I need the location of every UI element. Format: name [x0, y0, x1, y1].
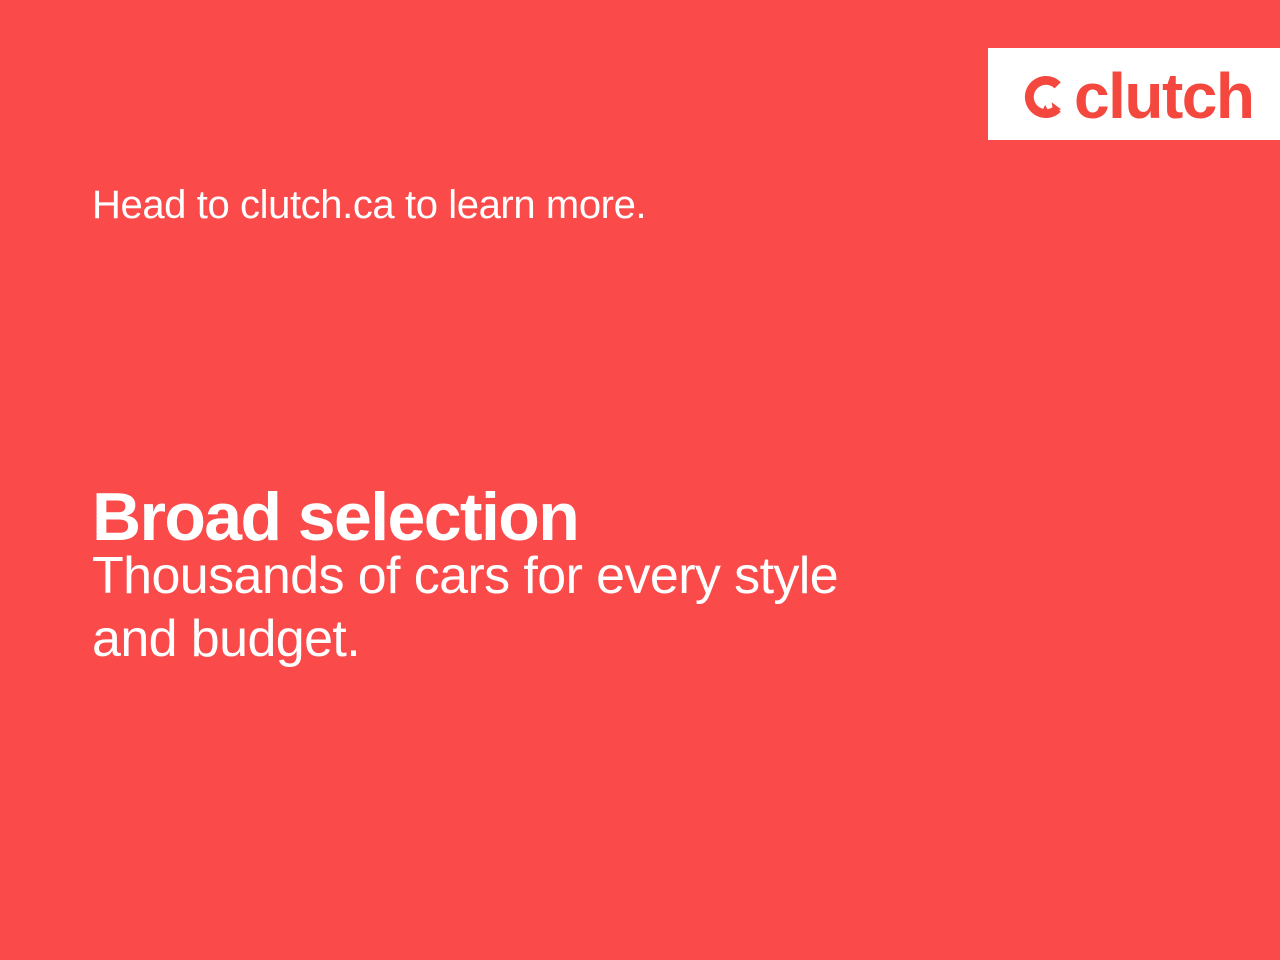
subheading-line-1: Thousands of cars for every style — [92, 545, 1032, 608]
clutch-logo-badge[interactable]: clutch — [988, 48, 1280, 140]
subheading-text: Thousands of cars for every style and bu… — [92, 545, 1032, 672]
logo-lockup: clutch — [1020, 63, 1253, 125]
clutch-c-mark-icon — [1020, 71, 1072, 123]
clutch-wordmark: clutch — [1074, 64, 1253, 128]
tagline-text: Head to clutch.ca to learn more. — [92, 182, 646, 228]
subheading-line-2: and budget. — [92, 608, 1032, 671]
promo-slide: clutch Head to clutch.ca to learn more. … — [0, 0, 1280, 960]
page-title: Broad selection — [92, 482, 578, 553]
